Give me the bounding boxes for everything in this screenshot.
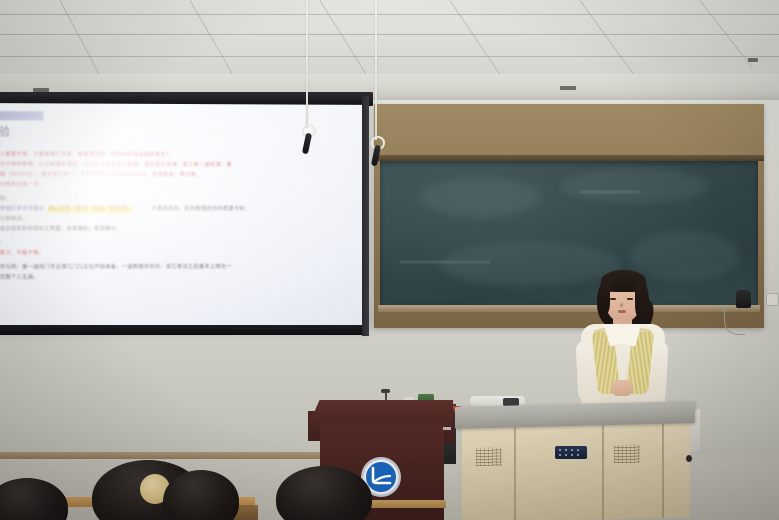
ceiling-microphone-left-wire	[306, 0, 308, 128]
console-vent-grille-right	[614, 445, 640, 464]
slide-line: ，不要找机构、机构整理的资料质量不好、	[146, 206, 250, 213]
projection-screen-right-frame	[362, 96, 369, 336]
blackboard	[380, 161, 758, 305]
slide-line: 材料：	[0, 141, 5, 148]
slide-line: 章就完整个三五遍。	[0, 274, 39, 281]
ceiling-microphone-right-wire	[375, 0, 377, 140]
wall-outlet	[766, 293, 779, 306]
teaching-console-body	[462, 422, 690, 520]
lecture-hall-photo: 经验 材料： 每个人都要开做，不要想着打学弟，都是恶性的（你的对手是全国的考生）…	[0, 0, 779, 520]
slide-line: 机经验：	[0, 196, 11, 203]
slide-line: 政治也不用和数据，以及就算机课后，小作文大作文加上真题，课后笔记背诵，高三第一遍…	[0, 162, 232, 170]
slide-accent-bar	[0, 111, 43, 120]
slide-line: 以数学为例：第一遍用门专业课几门几左右开始准备，一遍数据多些好，是它考试之后基本…	[0, 264, 232, 272]
slide-line: 以后分数的应高一点。	[0, 182, 44, 189]
projection-screen: 经验 材料： 每个人都要开做，不要想着打学弟，都是恶性的（你的对手是全国的考生）…	[0, 103, 368, 331]
console-control-panel[interactable]	[555, 446, 587, 459]
console-hinge	[686, 455, 692, 462]
console-vent-grille-left	[476, 448, 502, 467]
presenter-nose	[620, 303, 623, 307]
projection-screen-bottom-edge	[0, 325, 368, 335]
slide-line-highlighted: 核心资料（笔记、真题、答案等）	[47, 206, 132, 213]
lectern-label	[443, 427, 451, 430]
ceiling-vent-far-right	[748, 58, 758, 62]
presenter	[575, 270, 671, 420]
slide-line: 尽早复习、不能干等。	[0, 250, 44, 257]
slide-line: 教学会比较实际的资料之质量，去其糟粕，取其精华。	[0, 226, 122, 233]
slide-line: 学长学姐们学长学姐买	[0, 206, 44, 213]
slide-line: 每个人都要开做，不要想着打学弟，都是恶性的（你的对手是全国的考生）。	[0, 151, 174, 159]
slide-content: 经验 材料： 每个人都要开做，不要想着打学弟，都是恶性的（你的对手是全国的考生）…	[0, 111, 368, 325]
presenter-hair-side-left	[599, 278, 610, 314]
slide-line: 有不少的缺点。	[0, 216, 28, 223]
presenter-mouth	[618, 310, 626, 313]
chalk-tray	[378, 305, 760, 312]
presenter-hands	[611, 380, 633, 396]
presenter-eye-right	[627, 298, 633, 300]
presenter-eye-left	[610, 298, 616, 300]
slide-line: 经验：	[0, 240, 5, 247]
slide-title: 经验	[0, 123, 11, 139]
slide-line: 两遍题（内130分），要后有已用八，专业课要自己总结的知识点、真题答案、笔记等。	[0, 172, 201, 179]
ceiling-vent-right	[560, 86, 576, 90]
speaker-cable	[724, 306, 745, 335]
